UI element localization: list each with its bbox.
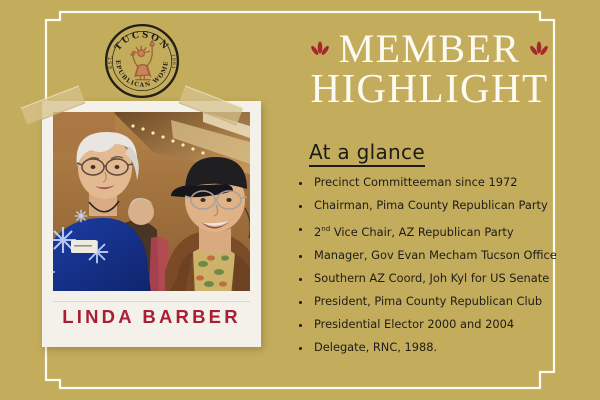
at-a-glance-heading: At a glance — [309, 140, 425, 167]
bullet-dot — [299, 255, 302, 258]
headline: MEMBER HIGHLIGHT — [277, 29, 582, 108]
list-item: Delegate, RNC, 1988. — [297, 338, 597, 358]
headline-word-member: MEMBER — [339, 29, 521, 68]
member-photo — [53, 112, 250, 291]
leaf-cluster-icon-left — [310, 39, 330, 59]
polaroid-photo-card: LINDA BARBER — [42, 101, 261, 347]
list-item: President, Pima County Republican Club — [297, 292, 597, 312]
list-item-label: Chairman, Pima County Republican Party — [314, 198, 548, 212]
bullet-dot — [299, 301, 302, 304]
tucson-republican-women-logo: TUCSON REPUBLICAN WOMEN EST. 1961 — [103, 22, 181, 100]
headline-line-2: HIGHLIGHT — [277, 68, 582, 108]
list-item: 2nd Vice Chair, AZ Republican Party — [297, 219, 597, 242]
list-item-label: Precinct Committeeman since 1972 — [314, 175, 517, 189]
list-item: Manager, Gov Evan Mecham Tucson Office — [297, 246, 597, 266]
statue-of-liberty-icon — [131, 41, 154, 80]
bullet-dot — [299, 205, 302, 208]
at-a-glance-list: Precinct Committeeman since 1972 Chairma… — [297, 173, 597, 362]
member-name: LINDA BARBER — [42, 306, 261, 328]
bullet-dot — [299, 324, 302, 327]
logo-left-text: EST. — [107, 54, 114, 69]
name-separator — [53, 301, 250, 302]
list-item: Southern AZ Coord, Joh Kyl for US Senate — [297, 269, 597, 289]
headline-word-highlight: HIGHLIGHT — [310, 68, 548, 108]
logo-right-text: 1961 — [170, 54, 177, 70]
list-item: Chairman, Pima County Republican Party — [297, 196, 597, 216]
svg-text:1961: 1961 — [170, 54, 177, 70]
bullet-dot — [299, 228, 302, 231]
leaf-cluster-icon-right — [529, 39, 549, 59]
list-item-ordinal-suffix: nd — [321, 224, 330, 233]
list-item-label: President, Pima County Republican Club — [314, 294, 542, 308]
list-item-label: Southern AZ Coord, Joh Kyl for US Senate — [314, 271, 549, 285]
list-item-label: Manager, Gov Evan Mecham Tucson Office — [314, 248, 557, 262]
list-item: Precinct Committeeman since 1972 — [297, 173, 597, 193]
svg-text:EST.: EST. — [107, 54, 114, 69]
member-highlight-card: TUCSON REPUBLICAN WOMEN EST. 1961 — [0, 0, 600, 400]
bullet-dot — [299, 347, 302, 350]
list-item-label: Presidential Elector 2000 and 2004 — [314, 317, 514, 331]
list-item: Presidential Elector 2000 and 2004 — [297, 315, 597, 335]
headline-line-1: MEMBER — [277, 29, 582, 68]
bullet-dot — [299, 182, 302, 185]
bullet-dot — [299, 278, 302, 281]
list-item-label: Vice Chair, AZ Republican Party — [330, 225, 513, 239]
list-item-label: Delegate, RNC, 1988. — [314, 340, 437, 354]
